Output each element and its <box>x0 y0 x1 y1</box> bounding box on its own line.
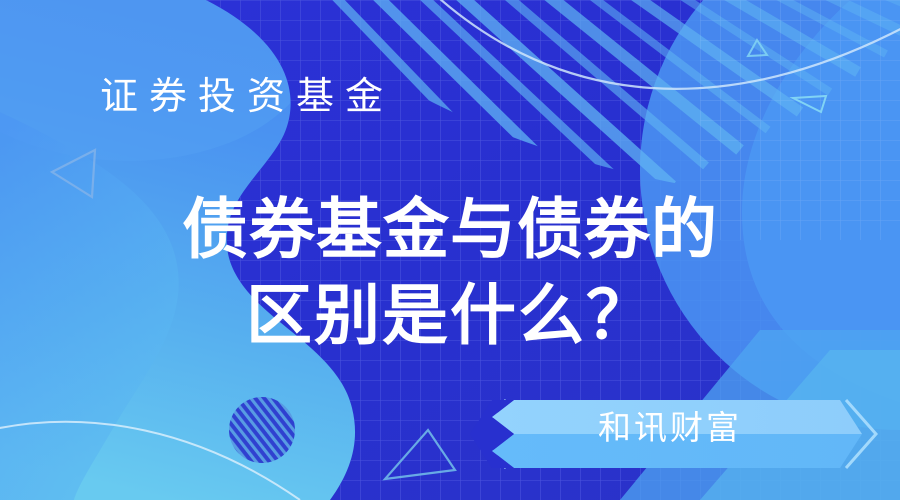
background-art-layer <box>0 0 900 500</box>
grid-pattern-light <box>700 0 900 240</box>
poster-canvas: 证券投资基金 债券基金与债券的 区别是什么？ 和讯财富 <box>0 0 900 500</box>
ribbon-body-bottom <box>492 434 862 468</box>
ribbon-body-top <box>492 400 862 434</box>
brand-ribbon <box>470 400 876 468</box>
decor-striped-circle <box>229 397 295 463</box>
